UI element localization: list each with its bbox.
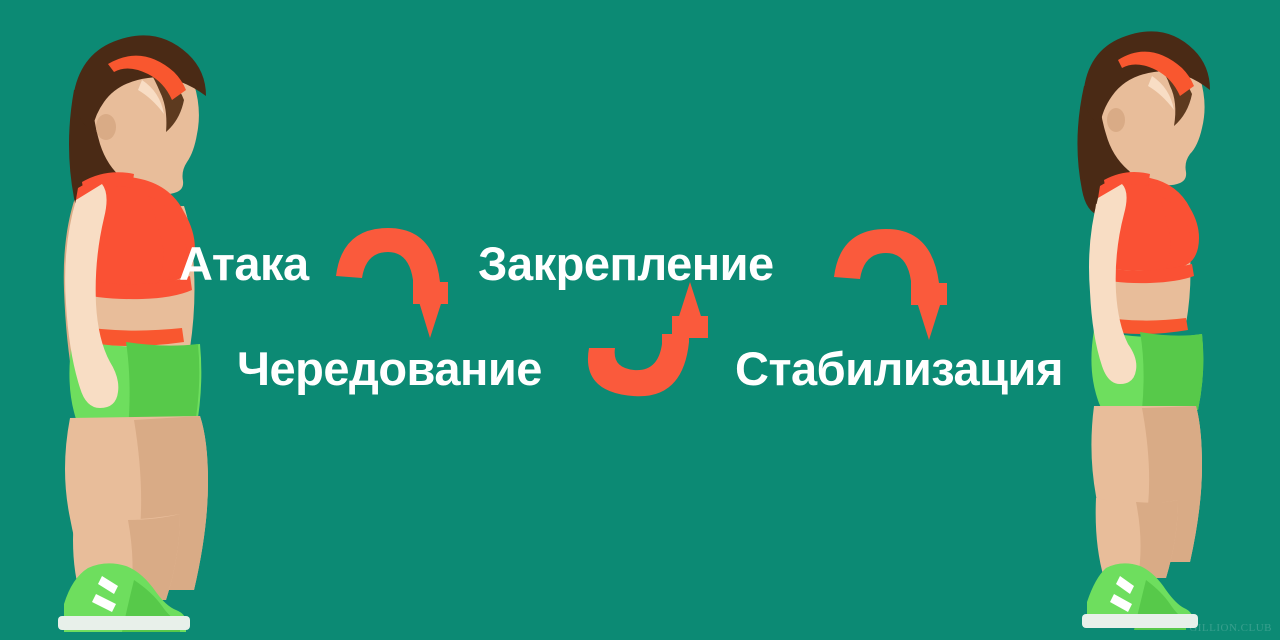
stage-label-stabilize: Стабилизация <box>735 345 1063 392</box>
infographic-canvas: Атака Закрепление Чередование Стабилизац… <box>0 0 1280 640</box>
stage-labels: Атака Закрепление Чередование Стабилизац… <box>0 0 1280 640</box>
stage-label-alternate: Чередование <box>237 345 542 392</box>
stage-label-attack: Атака <box>179 240 309 287</box>
watermark: GILLION.CLUB <box>1189 622 1272 634</box>
stage-label-consolidate: Закрепление <box>478 240 774 287</box>
